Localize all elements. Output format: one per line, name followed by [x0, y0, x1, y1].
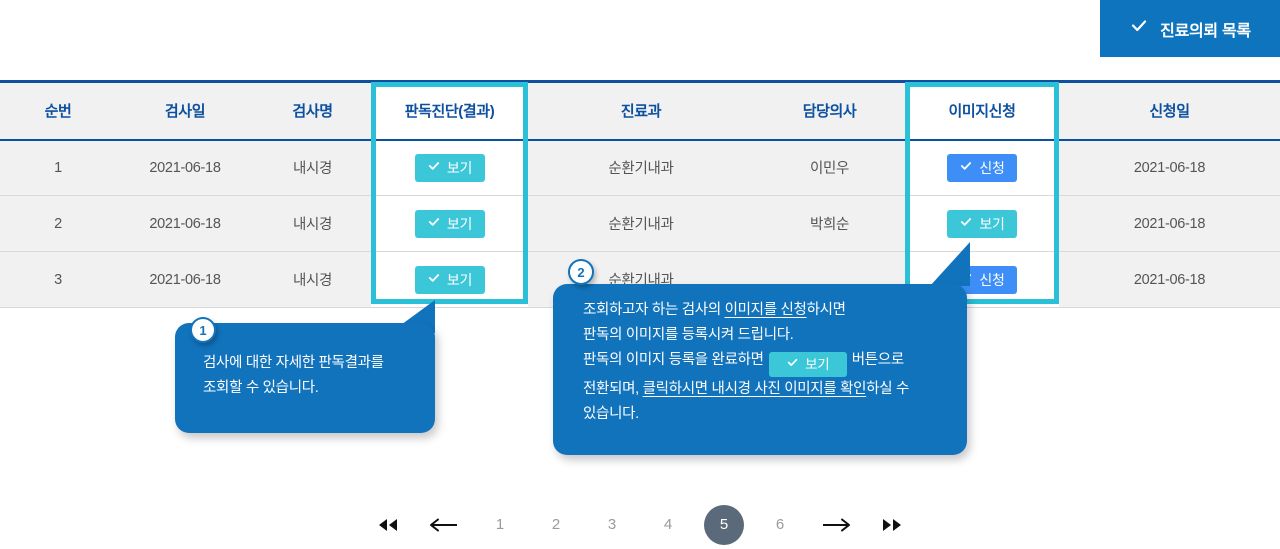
- request-image-label: 신청: [979, 158, 1004, 178]
- table-row: 2 2021-06-18 내시경 보기 순환기내과 박희순: [0, 196, 1280, 252]
- callout-2-line-4-text-a: 전환되며,: [583, 381, 643, 397]
- check-icon: [959, 159, 973, 176]
- pagination: 1 2 3 4 5 6: [0, 500, 1280, 549]
- column-header-result: 판독진단(결과): [371, 82, 528, 140]
- cell-doctor: 박희순: [754, 196, 905, 252]
- callout-2-line-4-text-b: 하실 수: [866, 381, 909, 397]
- callout-2-line-1: 조회하고자 하는 검사의 이미지를 신청하시면: [583, 298, 967, 323]
- cell-exam-date: 2021-06-18: [116, 140, 254, 196]
- cell-result: 보기: [371, 140, 528, 196]
- cell-image-request: 신청: [905, 140, 1059, 196]
- cell-exam-date: 2021-06-18: [116, 252, 254, 308]
- callout-1-line-1: 검사에 대한 자세한 판독결과를: [203, 351, 435, 376]
- view-result-label: 보기: [447, 270, 472, 290]
- cell-request-date: 2021-06-18: [1059, 252, 1280, 308]
- pagination-current-label: 5: [704, 505, 744, 545]
- table-row: 1 2021-06-18 내시경 보기 순환기내과 이민우: [0, 140, 1280, 196]
- callout-2-line-1-text-b: 하시면: [807, 302, 846, 318]
- callout-2-line-1-link: 이미지를 신청: [725, 302, 807, 318]
- callout-2: 조회하고자 하는 검사의 이미지를 신청하시면 판독의 이미지를 등록시켜 드립…: [553, 284, 967, 455]
- cell-result: 보기: [371, 196, 528, 252]
- check-icon: [427, 215, 441, 232]
- check-icon: [959, 215, 973, 232]
- callout-1-badge: 1: [190, 317, 216, 343]
- check-icon: [1129, 16, 1149, 41]
- callout-2-tail: [930, 242, 970, 286]
- view-image-label: 보기: [979, 214, 1004, 234]
- pagination-page-2[interactable]: 2: [528, 500, 584, 549]
- cell-request-date: 2021-06-18: [1059, 196, 1280, 252]
- pagination-page-4[interactable]: 4: [640, 500, 696, 549]
- cell-exam-name: 내시경: [254, 140, 371, 196]
- pagination-first-button[interactable]: [360, 500, 416, 549]
- pagination-last-button[interactable]: [864, 500, 920, 549]
- cell-exam-name: 내시경: [254, 252, 371, 308]
- pagination-page-3[interactable]: 3: [584, 500, 640, 549]
- callout-2-line-1-text-a: 조회하고자 하는 검사의: [583, 302, 725, 318]
- callout-2-line-2: 판독의 이미지를 등록시켜 드립니다.: [583, 323, 967, 348]
- cell-dept: 순환기내과: [528, 140, 754, 196]
- inline-view-label: 보기: [805, 352, 829, 377]
- callout-2-line-3-text-b: 버튼으로: [852, 352, 904, 368]
- column-header-no: 순번: [0, 82, 116, 140]
- column-header-image-request: 이미지신청: [905, 82, 1059, 140]
- view-result-label: 보기: [447, 158, 472, 178]
- request-image-label: 신청: [979, 270, 1004, 290]
- pagination-page-5-current[interactable]: 5: [696, 500, 752, 549]
- cell-image-request: 보기: [905, 196, 1059, 252]
- cell-request-date: 2021-06-18: [1059, 140, 1280, 196]
- column-header-exam-name: 검사명: [254, 82, 371, 140]
- view-result-button[interactable]: 보기: [415, 266, 485, 294]
- callout-2-line-4-link: 클릭하시면 내시경 사진 이미지를 확인: [643, 381, 867, 397]
- column-header-doctor: 담당의사: [754, 82, 905, 140]
- pagination-page-6[interactable]: 6: [752, 500, 808, 549]
- check-icon: [427, 271, 441, 288]
- callout-2-line-5: 있습니다.: [583, 402, 967, 427]
- cell-exam-date: 2021-06-18: [116, 196, 254, 252]
- pagination-prev-button[interactable]: [416, 500, 472, 549]
- check-icon: [786, 352, 799, 377]
- exam-table-container: 순번 검사일 검사명 판독진단(결과) 진료과 담당의사 이미지신청 신청일 1…: [0, 80, 1280, 308]
- request-image-button[interactable]: 신청: [947, 154, 1017, 182]
- cell-no: 2: [0, 196, 116, 252]
- inline-view-button: 보기: [769, 352, 847, 377]
- check-icon: [427, 159, 441, 176]
- cell-no: 1: [0, 140, 116, 196]
- column-header-exam-date: 검사일: [116, 82, 254, 140]
- column-header-dept: 진료과: [528, 82, 754, 140]
- cell-exam-name: 내시경: [254, 196, 371, 252]
- callout-2-line-3-text-a: 판독의 이미지 등록을 완료하면: [583, 352, 764, 368]
- view-result-button[interactable]: 보기: [415, 210, 485, 238]
- pagination-page-1[interactable]: 1: [472, 500, 528, 549]
- cell-no: 3: [0, 252, 116, 308]
- referral-list-button[interactable]: 진료의뢰 목록: [1100, 0, 1280, 57]
- callout-1-line-2: 조회할 수 있습니다.: [203, 376, 435, 401]
- pagination-next-button[interactable]: [808, 500, 864, 549]
- cell-doctor: 이민우: [754, 140, 905, 196]
- callout-2-badge: 2: [568, 259, 594, 285]
- callout-1: 검사에 대한 자세한 판독결과를 조회할 수 있습니다.: [175, 323, 435, 433]
- column-header-request-date: 신청일: [1059, 82, 1280, 140]
- table-header-row: 순번 검사일 검사명 판독진단(결과) 진료과 담당의사 이미지신청 신청일: [0, 82, 1280, 140]
- exam-table: 순번 검사일 검사명 판독진단(결과) 진료과 담당의사 이미지신청 신청일 1…: [0, 80, 1280, 308]
- view-result-label: 보기: [447, 214, 472, 234]
- referral-list-label: 진료의뢰 목록: [1160, 17, 1251, 41]
- callout-2-line-4: 전환되며, 클릭하시면 내시경 사진 이미지를 확인하실 수: [583, 377, 967, 402]
- callout-2-line-3: 판독의 이미지 등록을 완료하면보기버튼으로: [583, 348, 967, 377]
- view-image-button[interactable]: 보기: [947, 210, 1017, 238]
- cell-dept: 순환기내과: [528, 196, 754, 252]
- view-result-button[interactable]: 보기: [415, 154, 485, 182]
